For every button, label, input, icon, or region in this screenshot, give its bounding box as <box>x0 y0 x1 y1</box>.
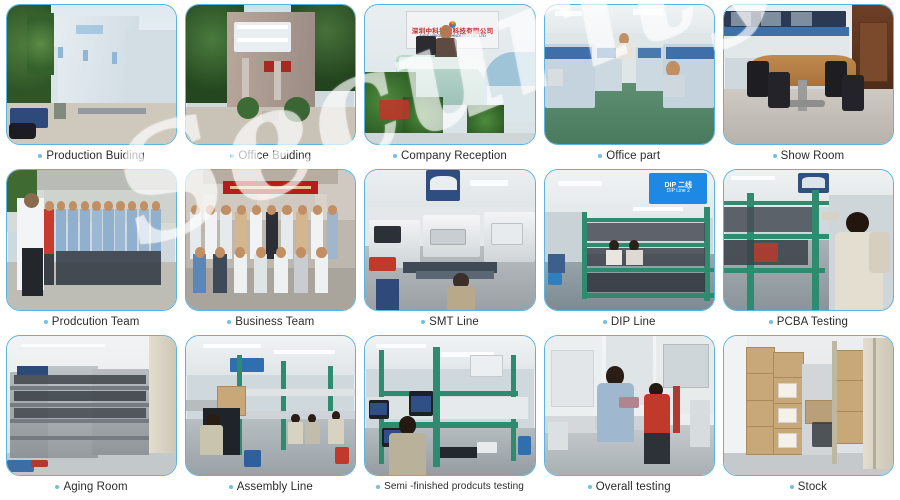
photo-stock[interactable] <box>723 335 894 476</box>
caption-text: Production Buiding <box>46 145 144 167</box>
gallery-cell-company-reception[interactable]: 深圳中科视安科技有限公司 SAFE VISION TECHNOLOGY CO.,… <box>364 4 535 167</box>
caption-pcba-testing: PCBA Testing <box>769 311 848 333</box>
photo-dip-line[interactable]: DIP 二线 DIP Line 2 <box>544 169 715 310</box>
photo-assembly-line[interactable] <box>185 335 356 476</box>
photo-company-reception[interactable]: 深圳中科视安科技有限公司 SAFE VISION TECHNOLOGY CO.,… <box>364 4 535 145</box>
scene-assembly-benches <box>186 336 355 475</box>
caption-text: Aging Room <box>63 476 127 498</box>
caption-smt-line: SMT Line <box>421 311 479 333</box>
caption-text: Overall testing <box>596 476 671 498</box>
photo-smt-line[interactable] <box>364 169 535 310</box>
gallery-cell-production-team[interactable]: Prodcution Team <box>6 169 177 332</box>
gallery-cell-semi-finished[interactable]: Semi -finished prodcuts testing <box>364 335 535 498</box>
dip-sign-line2: DIP Line 2 <box>667 189 690 194</box>
scene-meeting-room <box>724 5 893 144</box>
bullet-icon <box>229 485 233 489</box>
bullet-icon <box>603 320 607 324</box>
caption-text: Assembly Line <box>237 476 313 498</box>
bullet-icon <box>790 485 794 489</box>
photo-pcba-testing[interactable] <box>723 169 894 310</box>
photo-aging-room[interactable] <box>6 335 177 476</box>
scene-aging-racks <box>7 336 176 475</box>
scene-dip-racks: DIP 二线 DIP Line 2 <box>545 170 714 309</box>
photo-semi-finished-testing[interactable] <box>364 335 535 476</box>
scene-smt-machines <box>365 170 534 309</box>
caption-text: DIP Line <box>611 311 656 333</box>
gallery-cell-overall-testing[interactable]: Overall testing <box>544 335 715 498</box>
caption-text: SMT Line <box>429 311 479 333</box>
bullet-icon <box>55 485 59 489</box>
gallery-cell-stock[interactable]: Stock <box>723 335 894 498</box>
photo-show-room[interactable] <box>723 4 894 145</box>
facility-gallery: Production Buiding O <box>0 0 900 500</box>
caption-text: Stock <box>798 476 827 498</box>
scene-staff-lineup <box>7 170 176 309</box>
gallery-cell-assembly-line[interactable]: Assembly Line <box>185 335 356 498</box>
bullet-icon <box>227 320 231 324</box>
gallery-cell-show-room[interactable]: Show Room <box>723 4 894 167</box>
photo-office-building[interactable] <box>185 4 356 145</box>
photo-office-part[interactable] <box>544 4 715 145</box>
scene-testing-bench <box>365 336 534 475</box>
gallery-cell-office-building[interactable]: Office Buiding <box>185 4 356 167</box>
scene-pcba-bench <box>724 170 893 309</box>
gallery-cell-production-building[interactable]: Production Buiding <box>6 4 177 167</box>
bullet-icon <box>773 154 777 158</box>
bullet-icon <box>588 485 592 489</box>
gallery-cell-aging-room[interactable]: Aging Room <box>6 335 177 498</box>
gallery-cell-business-team[interactable]: Business Team <box>185 169 356 332</box>
caption-text: Office part <box>606 145 660 167</box>
gallery-cell-smt-line[interactable]: SMT Line <box>364 169 535 332</box>
caption-text: Semi -finished prodcuts testing <box>384 476 524 498</box>
caption-text: PCBA Testing <box>777 311 848 333</box>
gallery-cell-office-part[interactable]: Office part <box>544 4 715 167</box>
caption-text: Business Team <box>235 311 314 333</box>
bullet-icon <box>393 154 397 158</box>
caption-assembly-line: Assembly Line <box>229 476 313 498</box>
caption-text: Show Room <box>781 145 845 167</box>
caption-production-team: Prodcution Team <box>44 311 140 333</box>
caption-business-team: Business Team <box>227 311 314 333</box>
caption-aging-room: Aging Room <box>55 476 127 498</box>
scene-overall-test-room <box>545 336 714 475</box>
caption-show-room: Show Room <box>773 145 845 167</box>
gallery-cell-dip-line[interactable]: DIP 二线 DIP Line 2 <box>544 169 715 332</box>
bullet-icon <box>44 320 48 324</box>
bullet-icon <box>421 320 425 324</box>
scene-warehouse <box>724 336 893 475</box>
caption-office-part: Office part <box>598 145 660 167</box>
scene-office-exterior <box>186 5 355 144</box>
caption-dip-line: DIP Line <box>603 311 656 333</box>
caption-production-building: Production Buiding <box>38 145 144 167</box>
dip-line-sign: DIP 二线 DIP Line 2 <box>649 173 707 204</box>
scene-factory-exterior <box>7 5 176 144</box>
photo-production-team[interactable] <box>6 169 177 310</box>
caption-text: Office Buiding <box>238 145 311 167</box>
caption-semi-finished: Semi -finished prodcuts testing <box>376 476 524 498</box>
scene-reception: 深圳中科视安科技有限公司 SAFE VISION TECHNOLOGY CO.,… <box>365 5 534 144</box>
caption-company-reception: Company Reception <box>393 145 507 167</box>
bullet-icon <box>38 154 42 158</box>
photo-production-building[interactable] <box>6 4 177 145</box>
caption-office-building: Office Buiding <box>230 145 311 167</box>
bullet-icon <box>769 320 773 324</box>
bullet-icon <box>598 154 602 158</box>
photo-overall-testing[interactable] <box>544 335 715 476</box>
bullet-icon <box>376 485 380 489</box>
scene-open-office <box>545 5 714 144</box>
photo-business-team[interactable] <box>185 169 356 310</box>
caption-overall-testing: Overall testing <box>588 476 671 498</box>
scene-group-photo <box>186 170 355 309</box>
gallery-cell-pcba-testing[interactable]: PCBA Testing <box>723 169 894 332</box>
caption-stock: Stock <box>790 476 827 498</box>
caption-text: Prodcution Team <box>52 311 140 333</box>
caption-text: Company Reception <box>401 145 507 167</box>
bullet-icon <box>230 154 234 158</box>
